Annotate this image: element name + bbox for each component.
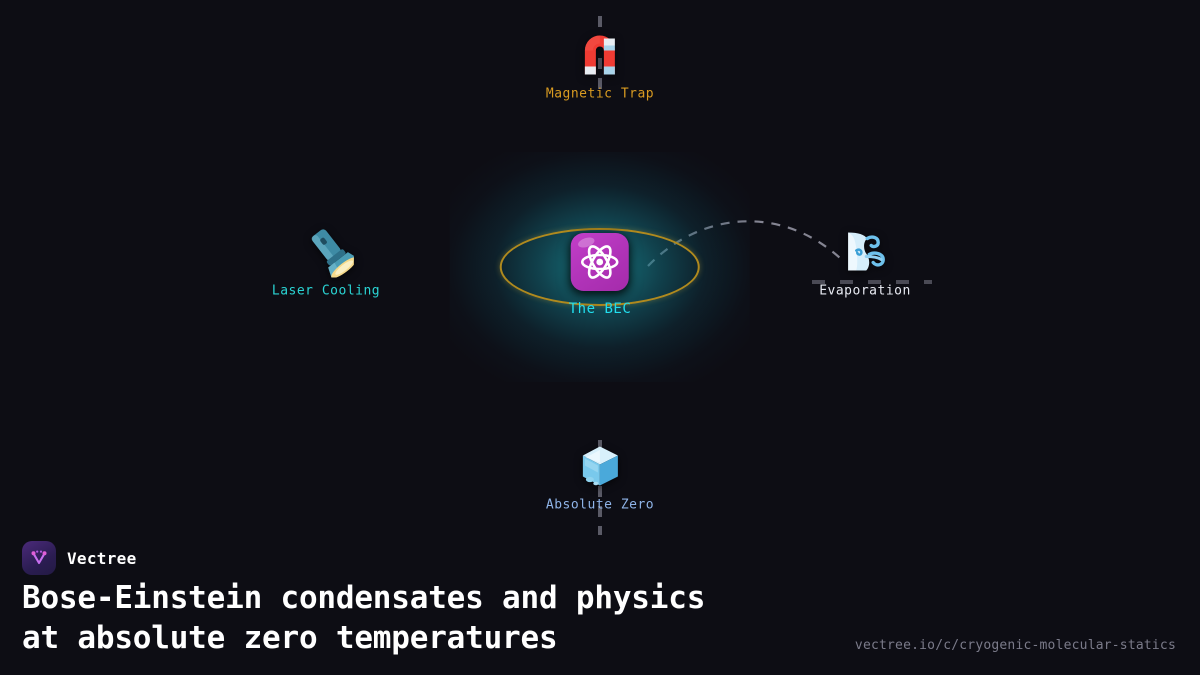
footer: Vectree Bose-Einstein condensates and ph… xyxy=(0,535,1200,675)
node-evaporation[interactable]: Evaporation xyxy=(819,226,911,299)
vectree-logo-icon xyxy=(22,541,56,575)
node-bec[interactable]: The BEC xyxy=(569,233,632,317)
brand-name: Vectree xyxy=(67,549,137,568)
ice-cube-icon xyxy=(575,440,625,492)
concept-graph: Magnetic Trap Laser xyxy=(0,0,1200,560)
brand: Vectree xyxy=(22,541,137,575)
edge-bec-to-evaporation xyxy=(648,221,840,266)
node-label-evaporation: Evaporation xyxy=(819,284,911,299)
page-title: Bose-Einstein condensates and physics at… xyxy=(22,579,705,659)
node-label-magnetic-trap: Magnetic Trap xyxy=(546,87,654,102)
node-laser-cooling[interactable]: Laser Cooling xyxy=(272,226,380,299)
node-magnetic-trap[interactable]: Magnetic Trap xyxy=(546,29,654,102)
node-label-bec: The BEC xyxy=(569,301,632,317)
node-label-laser-cooling: Laser Cooling xyxy=(272,284,380,299)
poster-canvas: Magnetic Trap Laser xyxy=(0,0,1200,675)
site-url: vectree.io/c/cryogenic-molecular-statics xyxy=(855,638,1176,653)
atom-icon xyxy=(571,233,629,291)
node-absolute-zero[interactable]: Absolute Zero xyxy=(546,440,654,513)
bec-icon-wrap xyxy=(571,233,629,291)
node-label-absolute-zero: Absolute Zero xyxy=(546,498,654,513)
wind-icon xyxy=(836,226,894,278)
magnet-icon xyxy=(574,29,626,81)
flashlight-icon xyxy=(298,226,354,278)
